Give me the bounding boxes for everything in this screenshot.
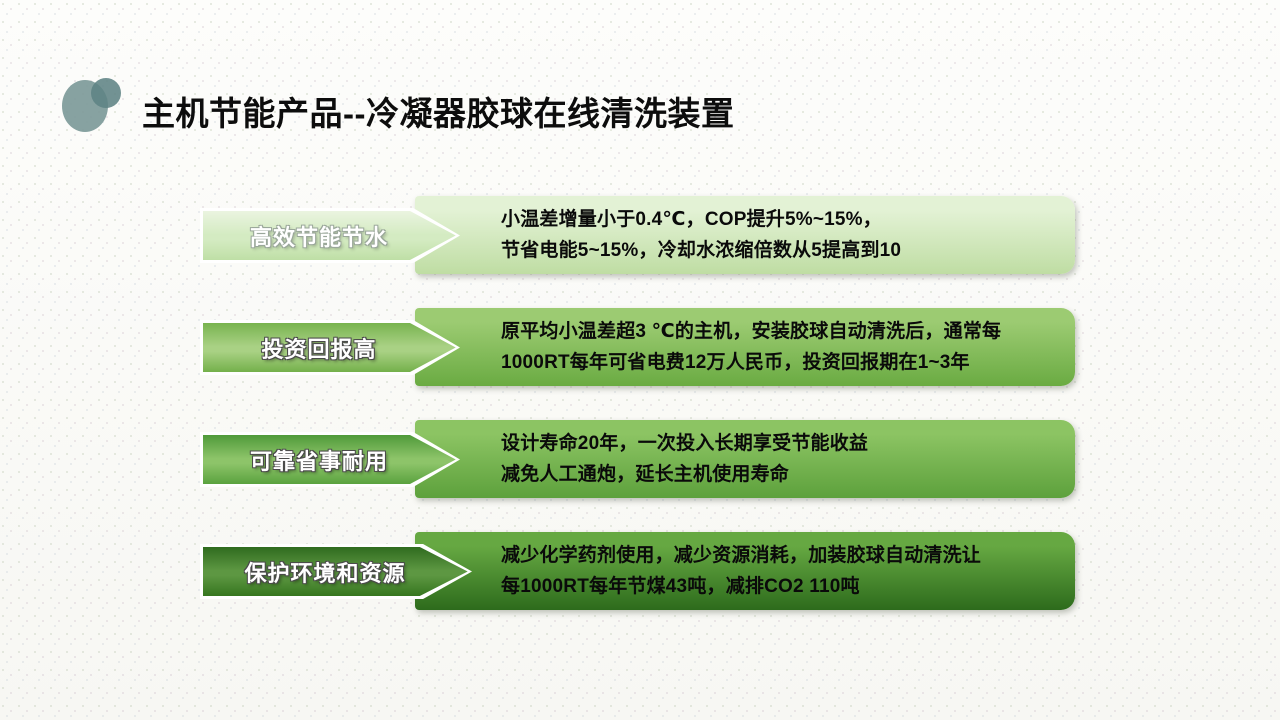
row-body-text: 减少化学药剂使用，减少资源消耗，加装胶球自动清洗让 每1000RT每年节煤43吨… <box>415 540 995 602</box>
row-arrow-shape[interactable]: 高效节能节水 <box>200 208 460 263</box>
row-arrow-fill: 投资回报高 <box>203 323 457 372</box>
row-body-panel: 减少化学药剂使用，减少资源消耗，加装胶球自动清洗让 每1000RT每年节煤43吨… <box>415 532 1075 610</box>
row-body-panel: 小温差增量小于0.4℃，COP提升5%~15%， 节省电能5~15%，冷却水浓缩… <box>415 196 1075 274</box>
row-arrow-label: 投资回报高 <box>261 332 398 364</box>
content-row: 原平均小温差超3 ℃的主机，安装胶球自动清洗后，通常每 1000RT每年可省电费… <box>0 300 1280 392</box>
row-arrow-shape[interactable]: 投资回报高 <box>200 320 460 375</box>
row-arrow-fill: 保护环境和资源 <box>203 547 469 596</box>
title-bar: 主机节能产品--冷凝器胶球在线清洗装置 <box>0 36 1280 108</box>
row-body-panel: 原平均小温差超3 ℃的主机，安装胶球自动清洗后，通常每 1000RT每年可省电费… <box>415 308 1075 386</box>
row-body-text: 小温差增量小于0.4℃，COP提升5%~15%， 节省电能5~15%，冷却水浓缩… <box>415 204 915 266</box>
slide-canvas: 主机节能产品--冷凝器胶球在线清洗装置 小温差增量小于0.4℃，COP提升5%~… <box>0 0 1280 720</box>
decorative-circle-small <box>91 78 121 108</box>
content-row: 减少化学药剂使用，减少资源消耗，加装胶球自动清洗让 每1000RT每年节煤43吨… <box>0 524 1280 616</box>
row-arrow-label: 高效节能节水 <box>250 220 410 252</box>
row-arrow-shape[interactable]: 可靠省事耐用 <box>200 432 460 487</box>
row-arrow-shape[interactable]: 保护环境和资源 <box>200 544 472 599</box>
row-arrow-label: 保护环境和资源 <box>244 556 427 588</box>
row-arrow-label: 可靠省事耐用 <box>250 444 410 476</box>
row-arrow-fill: 高效节能节水 <box>203 211 457 260</box>
content-row: 小温差增量小于0.4℃，COP提升5%~15%， 节省电能5~15%，冷却水浓缩… <box>0 188 1280 280</box>
row-body-text: 原平均小温差超3 ℃的主机，安装胶球自动清洗后，通常每 1000RT每年可省电费… <box>415 316 1015 378</box>
page-title: 主机节能产品--冷凝器胶球在线清洗装置 <box>142 94 734 134</box>
row-body-panel: 设计寿命20年，一次投入长期享受节能收益 减免人工通炮，延长主机使用寿命 <box>415 420 1075 498</box>
row-arrow-fill: 可靠省事耐用 <box>203 435 457 484</box>
row-body-text: 设计寿命20年，一次投入长期享受节能收益 减免人工通炮，延长主机使用寿命 <box>415 428 882 490</box>
content-row: 设计寿命20年，一次投入长期享受节能收益 减免人工通炮，延长主机使用寿命 可靠省… <box>0 412 1280 504</box>
